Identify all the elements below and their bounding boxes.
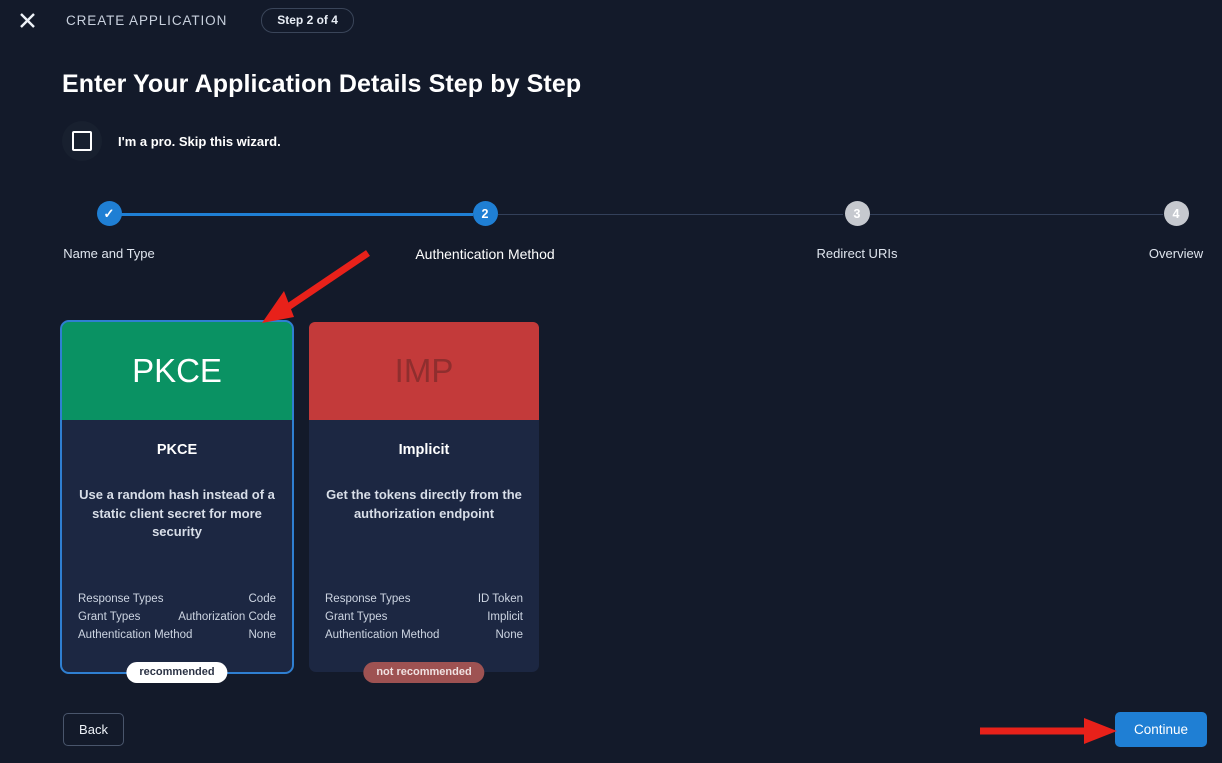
implicit-card-name: Implicit xyxy=(325,442,523,458)
implicit-card-body: Implicit Get the tokens directly from th… xyxy=(309,420,539,672)
stepper-step-2[interactable]: 2 Authentication Method xyxy=(385,201,585,262)
stepper-circle-3: 3 xyxy=(845,201,870,226)
spec-label: Response Types xyxy=(78,590,163,608)
spec-row: Response Types ID Token xyxy=(325,590,523,608)
stepper-circle-1: ✓ xyxy=(97,201,122,226)
implicit-spec-list: Response Types ID Token Grant Types Impl… xyxy=(325,590,523,644)
spec-row: Response Types Code xyxy=(78,590,276,608)
stepper-label-2: Authentication Method xyxy=(415,246,554,262)
step-badge: Step 2 of 4 xyxy=(261,8,354,33)
spec-row: Authentication Method None xyxy=(78,626,276,644)
spec-label: Grant Types xyxy=(78,608,140,626)
stepper-label-4: Overview xyxy=(1149,246,1203,261)
stepper-step-1[interactable]: ✓ Name and Type xyxy=(9,201,209,261)
top-bar: CREATE APPLICATION Step 2 of 4 xyxy=(0,0,1222,40)
implicit-card-description: Get the tokens directly from the authori… xyxy=(325,486,523,523)
skip-wizard-checkbox[interactable] xyxy=(72,131,92,151)
auth-method-card-implicit[interactable]: IMP Implicit Get the tokens directly fro… xyxy=(309,322,539,672)
stepper-connector-3-4 xyxy=(870,214,1163,215)
implicit-banner: IMP xyxy=(309,322,539,420)
spec-label: Authentication Method xyxy=(325,626,439,644)
stepper: ✓ Name and Type 2 Authentication Method … xyxy=(0,201,1222,281)
stepper-circle-4: 4 xyxy=(1164,201,1189,226)
stepper-label-1: Name and Type xyxy=(63,246,155,261)
stepper-circle-2: 2 xyxy=(473,201,498,226)
pkce-card-name: PKCE xyxy=(78,442,276,458)
pkce-card-body: PKCE Use a random hash instead of a stat… xyxy=(62,420,292,672)
page-title: Enter Your Application Details Step by S… xyxy=(62,70,1222,99)
continue-button[interactable]: Continue xyxy=(1115,712,1207,747)
spec-value: Code xyxy=(249,590,277,608)
auth-method-cards: PKCE PKCE Use a random hash instead of a… xyxy=(62,322,539,672)
spec-row: Grant Types Implicit xyxy=(325,608,523,626)
stepper-connector-2-3 xyxy=(498,214,843,215)
spec-label: Authentication Method xyxy=(78,626,192,644)
spec-value: Authorization Code xyxy=(178,608,276,626)
auth-method-card-pkce[interactable]: PKCE PKCE Use a random hash instead of a… xyxy=(62,322,292,672)
back-button[interactable]: Back xyxy=(63,713,124,746)
pkce-recommended-badge: recommended xyxy=(126,662,227,683)
pkce-card-description: Use a random hash instead of a static cl… xyxy=(78,486,276,542)
spec-value: None xyxy=(249,626,277,644)
pkce-spec-list: Response Types Code Grant Types Authoriz… xyxy=(78,590,276,644)
skip-wizard-label: I'm a pro. Skip this wizard. xyxy=(118,134,281,149)
close-icon[interactable] xyxy=(6,0,48,40)
skip-wizard-row: I'm a pro. Skip this wizard. xyxy=(62,121,1222,161)
spec-value: ID Token xyxy=(478,590,523,608)
wizard-title: CREATE APPLICATION xyxy=(66,13,227,28)
pkce-banner: PKCE xyxy=(62,322,292,420)
spec-label: Grant Types xyxy=(325,608,387,626)
stepper-step-4[interactable]: 4 Overview xyxy=(1076,201,1222,261)
check-icon: ✓ xyxy=(104,207,115,220)
stepper-label-3: Redirect URIs xyxy=(817,246,898,261)
spec-row: Grant Types Authorization Code xyxy=(78,608,276,626)
spec-value: None xyxy=(496,626,524,644)
annotation-arrow-to-continue-button xyxy=(980,716,1120,746)
spec-row: Authentication Method None xyxy=(325,626,523,644)
spec-value: Implicit xyxy=(487,608,523,626)
skip-wizard-checkbox-wrap[interactable] xyxy=(62,121,102,161)
stepper-step-3[interactable]: 3 Redirect URIs xyxy=(757,201,957,261)
stepper-connector-1-2 xyxy=(121,213,473,216)
implicit-not-recommended-badge: not recommended xyxy=(363,662,484,683)
spec-label: Response Types xyxy=(325,590,410,608)
